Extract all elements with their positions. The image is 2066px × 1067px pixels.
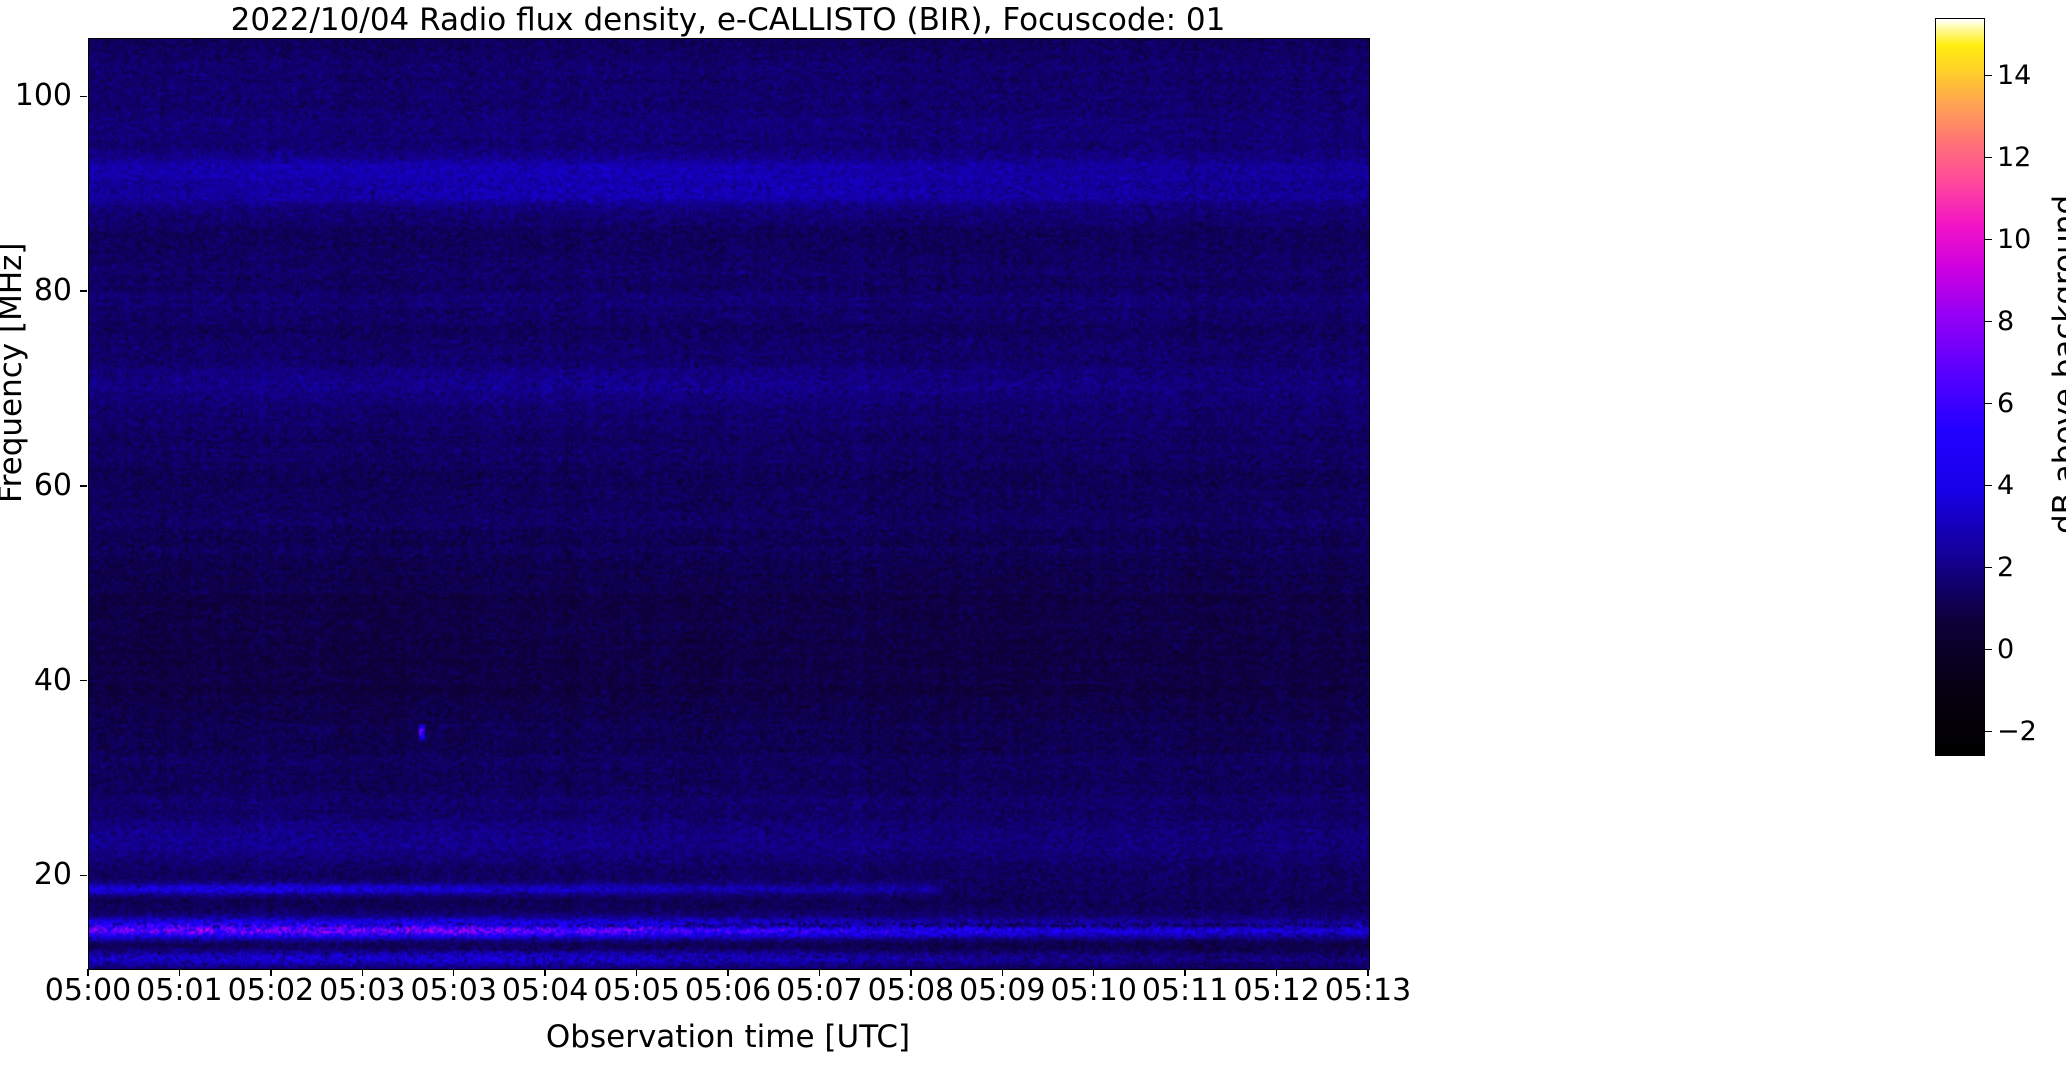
colorbar-tick-label: 2 (1997, 554, 2014, 581)
colorbar-tick-label: 0 (1997, 636, 2014, 663)
colorbar-label: dB above background (2050, 195, 2066, 534)
y-tick-mark (80, 680, 87, 681)
y-axis-label: Frequency [MHz] (0, 242, 27, 503)
colorbar-tick-mark (1985, 75, 1992, 76)
colorbar-tick-mark (1985, 239, 1992, 240)
figure-canvas: 2022/10/04 Radio flux density, e-CALLIST… (0, 0, 2066, 1067)
colorbar-tick-mark (1985, 567, 1992, 568)
x-tick-label: 05:13 (1288, 975, 1448, 1007)
y-tick-mark (80, 290, 87, 291)
y-tick-label: 100 (2, 81, 72, 111)
colorbar-tick-label: −2 (1997, 718, 2037, 745)
colorbar-tick-label: 14 (1997, 62, 2031, 89)
y-tick-mark (80, 485, 87, 486)
colorbar-tick-mark (1985, 485, 1992, 486)
y-tick-mark (80, 875, 87, 876)
colorbar-tick-label: 6 (1997, 390, 2014, 417)
colorbar-tick-label: 10 (1997, 226, 2031, 253)
colorbar-tick-mark (1985, 403, 1992, 404)
figure-title: 2022/10/04 Radio flux density, e-CALLIST… (0, 2, 1456, 38)
colorbar-image (1936, 19, 1984, 755)
colorbar-tick-mark (1985, 731, 1992, 732)
colorbar-tick-mark (1985, 321, 1992, 322)
colorbar-tick-label: 12 (1997, 144, 2031, 171)
y-tick-label: 40 (2, 666, 72, 696)
spectrogram-image (89, 39, 1369, 969)
colorbar-gradient (1935, 18, 1985, 756)
y-tick-mark (80, 96, 87, 97)
colorbar-tick-mark (1985, 157, 1992, 158)
x-axis-label: Observation time [UTC] (88, 1020, 1368, 1054)
colorbar-tick-mark (1985, 649, 1992, 650)
colorbar-tick-label: 8 (1997, 308, 2014, 335)
y-tick-label: 20 (2, 860, 72, 890)
colorbar-tick-label: 4 (1997, 472, 2014, 499)
spectrogram-axes[interactable] (88, 38, 1370, 970)
colorbar[interactable]: −202468101214 (1935, 18, 1985, 756)
